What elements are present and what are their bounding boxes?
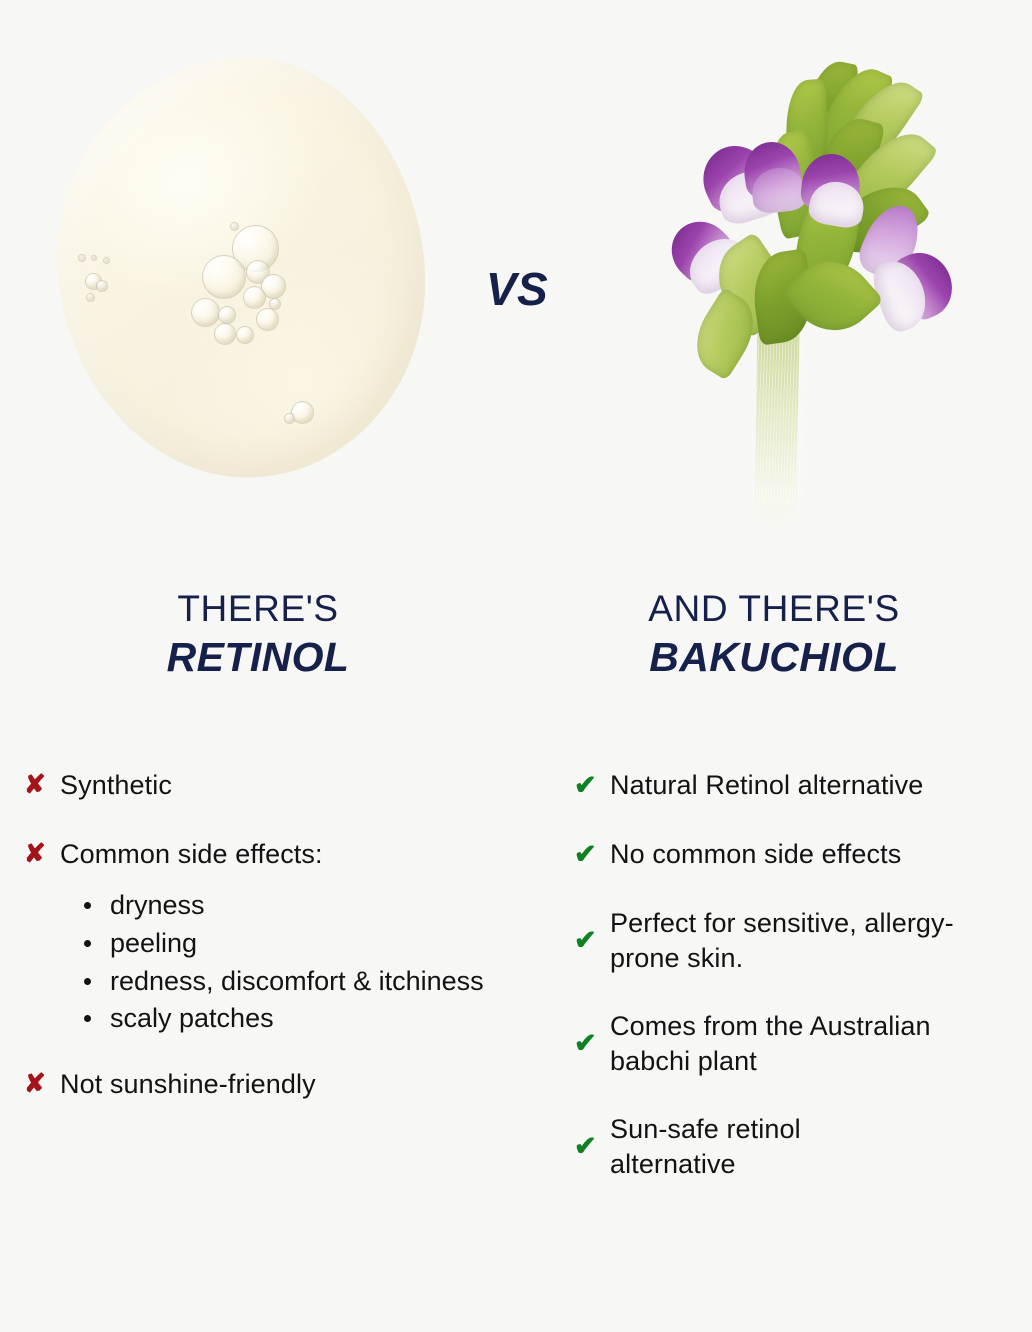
list-item: ✔ No common side effects — [574, 837, 1020, 872]
serum-bubble — [243, 286, 266, 309]
list-item: ✘ Common side effects: — [24, 837, 494, 872]
list-item: ✔ Comes from the Australian babchi plant — [574, 1009, 1020, 1078]
check-icon: ✔ — [574, 1129, 610, 1164]
heading-retinol: THERE'S RETINOL — [0, 588, 516, 681]
list-item: ✔ Natural Retinol alternative — [574, 768, 1020, 803]
list-item-label: Not sunshine-friendly — [60, 1067, 316, 1102]
list-item-label: Perfect for sensitive, allergy-prone ski… — [610, 906, 970, 975]
headings-row: THERE'S RETINOL AND THERE'S BAKUCHIOL — [0, 588, 1032, 681]
list-item: scaly patches — [80, 1000, 494, 1037]
heading-retinol-top: THERE'S — [0, 588, 516, 629]
heading-bakuchiol-top: AND THERE'S — [516, 588, 1032, 629]
list-item-label: Common side effects: — [60, 837, 323, 872]
heading-bakuchiol-name: BAKUCHIOL — [516, 635, 1032, 681]
serum-bubble — [230, 222, 239, 231]
serum-bubble — [78, 254, 86, 262]
serum-bubble — [218, 306, 236, 324]
serum-bubble — [269, 298, 281, 310]
check-icon: ✔ — [574, 837, 610, 872]
list-item: ✔ Sun-safe retinol alternative — [574, 1112, 1020, 1181]
infographic-page: VS THERE'S RETINOL AND THERE'S BAKUCHIOL… — [0, 0, 1032, 1332]
side-effects-sublist: dryness peeling redness, discomfort & it… — [80, 887, 494, 1037]
serum-bubble — [191, 298, 220, 327]
list-item: dryness — [80, 887, 494, 924]
babchi-plant-image — [660, 46, 980, 534]
cross-icon: ✘ — [24, 768, 60, 802]
heading-bakuchiol: AND THERE'S BAKUCHIOL — [516, 588, 1032, 681]
retinol-list: ✘ Synthetic ✘ Common side effects: dryne… — [0, 768, 516, 1215]
check-icon: ✔ — [574, 768, 610, 803]
hero-imagery: VS — [0, 0, 1032, 560]
serum-bubble — [86, 293, 95, 302]
check-icon: ✔ — [574, 923, 610, 958]
cross-icon: ✘ — [24, 837, 60, 871]
bakuchiol-list: ✔ Natural Retinol alternative ✔ No commo… — [516, 768, 1032, 1215]
list-item: peeling — [80, 925, 494, 962]
check-icon: ✔ — [574, 1026, 610, 1061]
comparison-columns: ✘ Synthetic ✘ Common side effects: dryne… — [0, 768, 1032, 1215]
list-item-label: No common side effects — [610, 837, 901, 872]
retinol-serum-image — [58, 58, 424, 478]
serum-bubble — [103, 257, 110, 264]
list-item: ✘ Not sunshine-friendly — [24, 1067, 494, 1102]
serum-bubble — [214, 323, 236, 345]
serum-bubble — [236, 326, 254, 344]
list-item: ✘ Synthetic — [24, 768, 494, 803]
serum-bubble — [284, 413, 295, 424]
list-item: ✔ Perfect for sensitive, allergy-prone s… — [574, 906, 1020, 975]
serum-bubble — [256, 308, 279, 331]
serum-bubble — [91, 255, 97, 261]
list-item-label: Comes from the Australian babchi plant — [610, 1009, 970, 1078]
list-item-label: Sun-safe retinol alternative — [610, 1112, 910, 1181]
list-item-label: Natural Retinol alternative — [610, 768, 923, 803]
list-item-label: Synthetic — [60, 768, 172, 803]
serum-bubble — [202, 255, 246, 299]
heading-retinol-name: RETINOL — [0, 635, 516, 681]
serum-bubble — [96, 280, 108, 292]
vs-label: VS — [470, 262, 564, 316]
list-item: redness, discomfort & itchiness — [80, 963, 494, 1000]
cross-icon: ✘ — [24, 1067, 60, 1101]
